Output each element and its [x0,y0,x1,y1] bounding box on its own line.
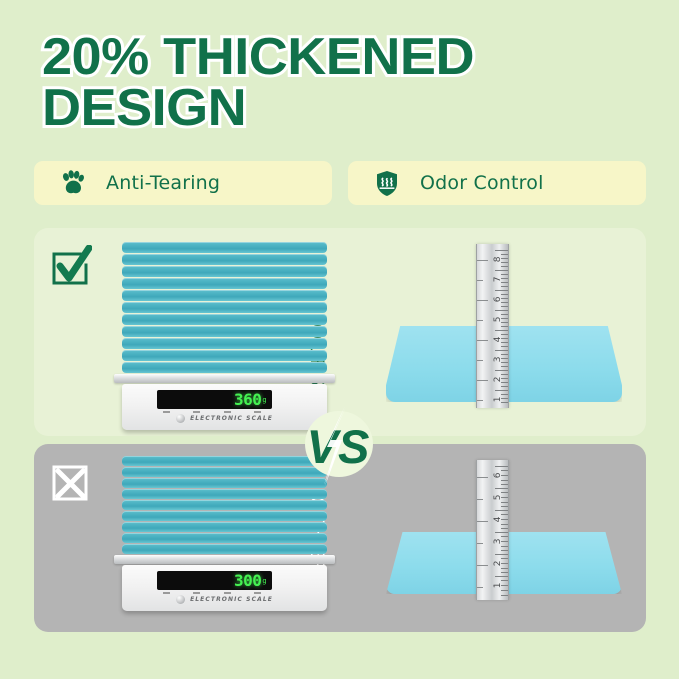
scale-body: 300 g ELECTRONIC SCALE [122,565,327,611]
ruler-ours: 8 7 6 5 4 3 2 1 [476,244,509,408]
others-thickness-measure: 6 5 4 3 2 1 [364,458,646,628]
versus-badge: VS [297,404,381,488]
pad-roll [122,533,327,543]
badge-odor-control: Odor Control [348,161,646,205]
headline-line-1: 20% THICKENED [42,28,474,86]
badge-label-anti-tearing: Anti-Tearing [106,172,220,194]
infographic-page: 20% THICKENED DESIGN Anti-Tearing [0,0,679,679]
pad-roll [122,254,327,265]
scale-display: 360 g [157,390,272,409]
electronic-scale-others: 300 g ELECTRONIC SCALE [122,555,327,611]
scale-brand-row: ELECTRONIC SCALE [122,595,327,604]
pad-roll [122,511,327,521]
scale-brand-text: ELECTRONIC SCALE [190,596,273,603]
pad-stack-ours [122,242,327,374]
pad-roll [122,266,327,277]
pad-roll [122,489,327,499]
scale-indicator-ticks [163,411,261,413]
scale-brand-text: ELECTRONIC SCALE [190,415,273,422]
check-icon [50,245,92,287]
scale-platter [114,374,335,383]
scale-display: 300 g [157,571,272,590]
power-button-icon[interactable] [176,595,185,604]
power-button-icon[interactable] [176,414,185,423]
pad-roll [122,314,327,325]
ruler-others: 6 5 4 3 2 1 [476,460,509,600]
scale-unit: g [262,577,266,585]
pad-roll [122,500,327,510]
odor-shield-icon [374,169,400,197]
headline-line-2: DESIGN [42,83,666,134]
pad-roll [122,326,327,337]
page-title: 20% THICKENED DESIGN [42,32,666,134]
badge-anti-tearing: Anti-Tearing [34,161,332,205]
pad-roll [122,278,327,289]
badge-label-odor-control: Odor Control [420,172,544,194]
scale-reading: 360 [234,392,261,408]
cross-icon [50,461,92,503]
ours-stack-and-scale: 360 g ELECTRONIC SCALE [122,242,327,430]
pad-roll [122,338,327,349]
pad-roll [122,302,327,313]
pad-roll [122,544,327,554]
paw-icon [60,169,86,197]
pad-roll [122,242,327,253]
feature-badge-row: Anti-Tearing Odor Control [34,161,646,205]
scale-reading: 300 [234,573,261,589]
scale-platter [114,555,335,564]
pad-roll [122,362,327,373]
pad-roll [122,350,327,361]
scale-indicator-ticks [163,592,261,594]
ours-thickness-measure: 8 7 6 5 4 3 2 1 [364,238,646,428]
pad-roll [122,290,327,301]
scale-unit: g [262,396,266,404]
pad-roll [122,522,327,532]
